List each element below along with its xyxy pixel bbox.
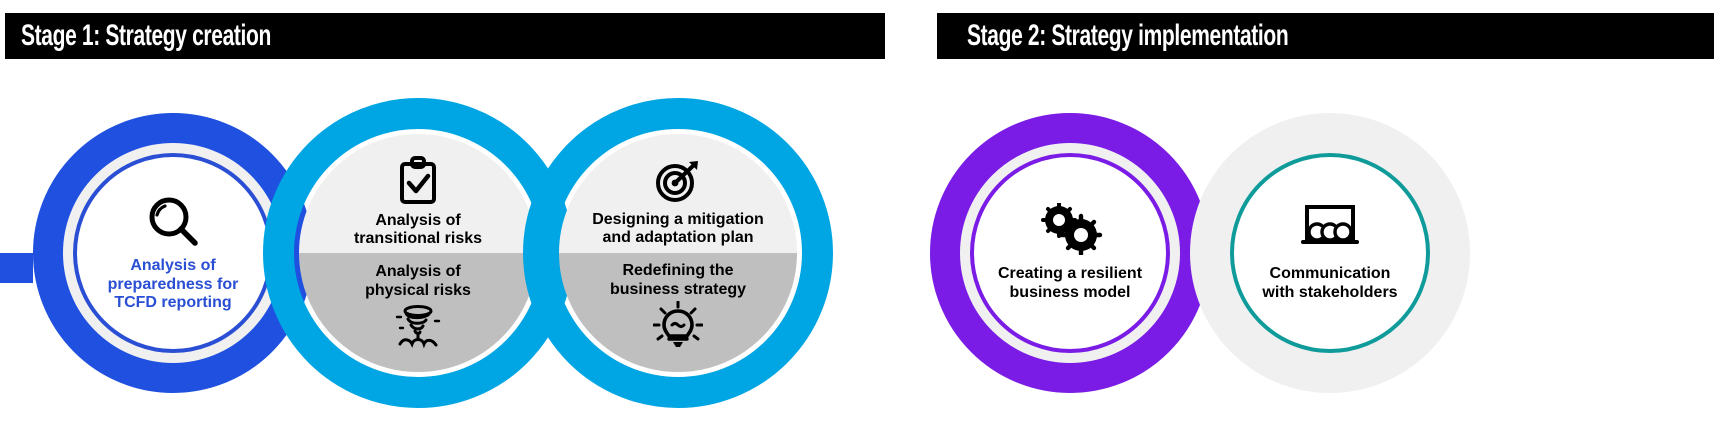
sub-node-physical-risks[interactable]: Analysis of physical risks: [365, 263, 471, 350]
stage-2-title: Stage 2: Strategy implementation: [967, 19, 1288, 53]
node-communication-stakeholders[interactable]: Communication with stakeholders: [1190, 113, 1470, 393]
target-icon: [653, 157, 703, 205]
clipboard-check-icon: [396, 156, 440, 206]
inner-circle: Creating a resilient business model: [970, 153, 1170, 353]
magnifier-icon: [143, 193, 203, 249]
sub-node-mitigation-plan[interactable]: Designing a mitigation and adaptation pl…: [592, 157, 764, 248]
node-label: Analysis of transitional risks: [354, 212, 482, 249]
node-label: Creating a resilient business model: [998, 265, 1142, 302]
presentation-audience-icon: [1300, 203, 1360, 255]
lightbulb-icon: [653, 301, 703, 349]
node-label: Redefining the business strategy: [610, 262, 746, 299]
inner-circle: Designing a mitigation and adaptation pl…: [559, 134, 797, 372]
blue-band-extension-left: [0, 253, 33, 283]
node-label: Analysis of preparedness for TCFD report…: [108, 257, 239, 313]
node-mitigation-strategy[interactable]: Designing a mitigation and adaptation pl…: [523, 98, 833, 408]
stage-1-title: Stage 1: Strategy creation: [21, 19, 271, 53]
tornado-icon: [392, 304, 444, 350]
node-resilient-business-model[interactable]: Creating a resilient business model: [930, 113, 1210, 393]
node-label: Communication with stakeholders: [1262, 265, 1397, 302]
inner-circle: Analysis of preparedness for TCFD report…: [73, 153, 273, 353]
node-label: Analysis of physical risks: [365, 263, 471, 300]
gears-icon: [1037, 203, 1103, 255]
sub-node-transitional-risks[interactable]: Analysis of transitional risks: [354, 156, 482, 249]
sub-node-redefining-strategy[interactable]: Redefining the business strategy: [610, 262, 746, 349]
node-transitional-physical-risks[interactable]: Analysis of transitional risks Analysis …: [263, 98, 573, 408]
stage-2-header: Stage 2: Strategy implementation: [937, 13, 1714, 59]
stage-1-header: Stage 1: Strategy creation: [5, 13, 885, 59]
inner-circle: Analysis of transitional risks Analysis …: [299, 134, 537, 372]
node-label: Designing a mitigation and adaptation pl…: [592, 211, 764, 248]
inner-circle: Communication with stakeholders: [1230, 153, 1430, 353]
